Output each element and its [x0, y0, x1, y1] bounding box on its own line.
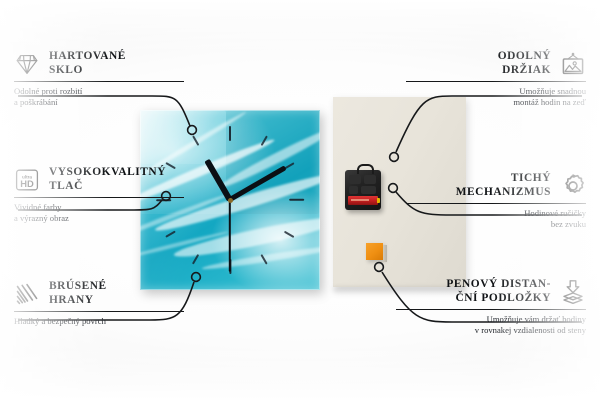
feature-title: BRÚSENÉ HRANY — [49, 280, 107, 308]
press-layers-icon — [560, 279, 586, 305]
svg-text:HD: HD — [20, 178, 34, 189]
divider — [406, 203, 586, 204]
ultra-hd-icon: ultra HD — [14, 167, 40, 193]
feature-description: Umožňuje vám držať hodiny v rovnakej vzd… — [396, 314, 586, 338]
feature-title: HARTOVANÉ SKLO — [49, 50, 126, 78]
diamond-icon — [14, 51, 40, 77]
feature-description: Vividné farby a výrazný obraz — [14, 202, 184, 226]
clock-movement — [345, 170, 381, 210]
feature-title: VYSOKOKVALITNÝ TLAČ — [49, 166, 166, 194]
divider — [14, 311, 184, 312]
ground-edges-icon — [14, 281, 40, 307]
feature-high-quality-print: ultra HD VYSOKOKVALITNÝ TLAČ Vividné far… — [14, 166, 184, 225]
feature-description: Umožňuje snadnou montáž hodin na zeď — [406, 86, 586, 110]
battery — [348, 196, 378, 205]
feature-description: Hodinové ručičky bez zvuku — [406, 208, 586, 232]
feature-title: ODOLNÝ DRŽIAK — [498, 50, 551, 78]
feature-silent-mechanism: TICHÝ MECHANIZMUS Hodinové ručičky bez z… — [406, 172, 586, 231]
clock-hub — [228, 198, 233, 203]
feature-foam-spacers: PENOVÝ DISTAN- ČNÍ PODLOŽKY Umožňuje vám… — [396, 278, 586, 337]
divider — [14, 197, 184, 198]
feature-title: TICHÝ MECHANIZMUS — [456, 172, 551, 200]
picture-frame-icon — [560, 51, 586, 77]
foam-spacer-pad — [366, 243, 383, 260]
gear-icon — [560, 173, 586, 199]
divider — [406, 81, 586, 82]
feature-description: Odolné proti rozbití a poškrábání — [14, 86, 184, 110]
feature-title: PENOVÝ DISTAN- ČNÍ PODLOŽKY — [446, 278, 551, 306]
divider — [396, 309, 586, 310]
feature-tempered-glass: HARTOVANÉ SKLO Odolné proti rozbití a po… — [14, 50, 184, 109]
feature-ground-edges: BRÚSENÉ HRANY Hladký a bezpečný povrch — [14, 280, 184, 327]
feature-description: Hladký a bezpečný povrch — [14, 316, 184, 328]
second-hand — [229, 200, 231, 272]
divider — [14, 81, 184, 82]
infographic-canvas: HARTOVANÉ SKLO Odolné proti rozbití a po… — [0, 0, 600, 400]
feature-durable-holder: ODOLNÝ DRŽIAK Umožňuje snadnou montáž ho… — [406, 50, 586, 109]
